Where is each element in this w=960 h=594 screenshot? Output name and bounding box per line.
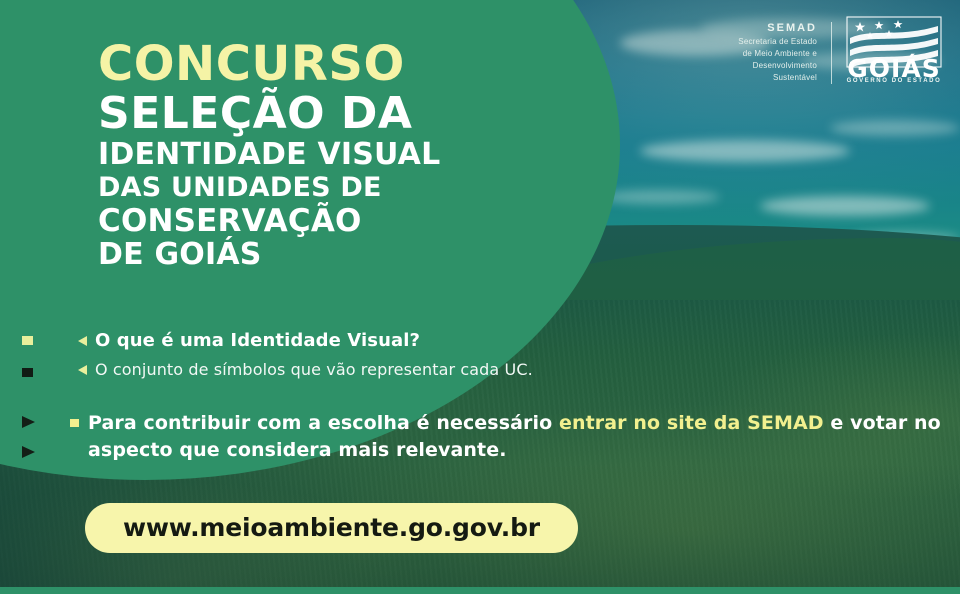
semad-subtitle-line-4: Sustentável: [738, 73, 817, 83]
title-line-unidades: DAS UNIDADES DE: [98, 173, 558, 203]
page-title: CONCURSO SELEÇÃO DA IDENTIDADE VISUAL DA…: [98, 42, 558, 272]
logo-divider: [831, 22, 832, 84]
edge-mark-triangle-dark-1: [22, 416, 35, 428]
bullet-text-instruction: Para contribuir com a escolha é necessár…: [88, 410, 950, 464]
bullet-item-instruction: Para contribuir com a escolha é necessár…: [70, 410, 950, 464]
title-line-concurso: CONCURSO: [98, 42, 558, 88]
semad-subtitle-line-3: Desenvolvimento: [738, 61, 817, 71]
bullet-item-answer: O conjunto de símbolos que vão represent…: [78, 360, 938, 379]
header-logos: SEMAD Secretaria de Estado de Meio Ambie…: [738, 16, 942, 90]
square-icon: [70, 419, 79, 427]
bullet-text-question: O que é uma Identidade Visual?: [95, 330, 420, 351]
edge-mark-square-dark: [22, 368, 33, 377]
website-url-text: www.meioambiente.go.gov.br: [123, 513, 540, 542]
edge-mark-triangle-dark-2: [22, 446, 35, 458]
title-line-goias: DE GOIÁS: [98, 239, 558, 271]
triangle-left-icon: [78, 336, 87, 346]
semad-subtitle-line-1: Secretaria de Estado: [738, 37, 817, 47]
website-url-pill[interactable]: www.meioambiente.go.gov.br: [85, 503, 578, 553]
semad-acronym: SEMAD: [738, 22, 817, 34]
bullet-item-question: O que é uma Identidade Visual?: [78, 330, 938, 351]
goias-state-logo: GOIÁS GOVERNO DO ESTADO: [846, 16, 942, 90]
bullet-text-answer: O conjunto de símbolos que vão represent…: [95, 360, 533, 379]
title-line-selecao: SELEÇÃO DA: [98, 92, 558, 137]
semad-subtitle-line-2: de Meio Ambiente e: [738, 49, 817, 59]
poster-canvas: SEMAD Secretaria de Estado de Meio Ambie…: [0, 0, 960, 594]
title-line-conservacao: CONSERVAÇÃO: [98, 205, 558, 238]
instruction-highlight-site: no site da SEMAD: [633, 412, 823, 434]
edge-mark-square-yellow: [22, 336, 33, 345]
semad-logo: SEMAD Secretaria de Estado de Meio Ambie…: [738, 22, 817, 83]
instruction-highlight-entrar: entrar: [559, 412, 627, 434]
goias-tagline: GOVERNO DO ESTADO: [846, 78, 942, 84]
title-line-identidade: IDENTIDADE VISUAL: [98, 139, 558, 171]
triangle-left-icon: [78, 365, 87, 375]
bottom-accent-bar: [0, 587, 960, 594]
instruction-part-1: Para contribuir com a escolha é necessár…: [88, 412, 559, 434]
